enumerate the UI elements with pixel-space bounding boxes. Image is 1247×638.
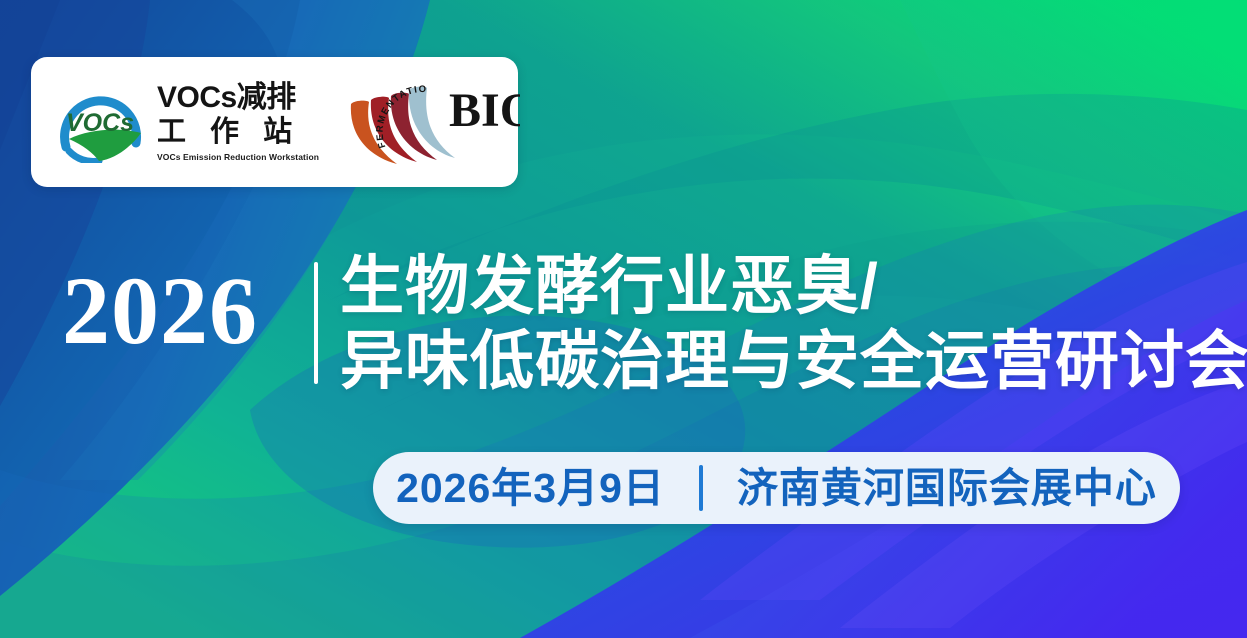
title-divider [314,262,318,384]
event-title: 生物发酵行业恶臭/ 异味低碳治理与安全运营研讨会 [340,252,1210,396]
vocs-logo: VOCs VOCs减排 工 作 站 VOCs Emission Reductio… [53,81,319,163]
conference-banner: VOCs VOCs减排 工 作 站 VOCs Emission Reductio… [0,0,1247,638]
vocs-title-line1: VOCs减排 [157,83,319,113]
vocs-subtitle: VOCs Emission Reduction Workstation [157,153,319,162]
event-title-line-2: 异味低碳治理与安全运营研讨会 [340,327,1210,396]
bio-fermentation-icon: FERMENTATION BIO [345,76,520,168]
vocs-emblem-icon: VOCs [53,81,149,163]
event-info-pill: 2026年3月9日 济南黄河国际会展中心 [373,452,1180,524]
svg-text:BIO: BIO [449,84,520,137]
event-venue: 济南黄河国际会展中心 [737,468,1157,509]
svg-text:VOCs: VOCs [66,109,134,137]
vocs-title-line2: 工 作 站 [157,118,319,147]
info-separator [699,465,703,511]
event-title-line-1: 生物发酵行业恶臭/ [340,252,1210,321]
bio-logo: FERMENTATION BIO [345,76,520,168]
event-date: 2026年3月9日 [396,468,665,509]
event-year: 2026 [62,263,258,359]
sponsor-logo-card: VOCs VOCs减排 工 作 站 VOCs Emission Reductio… [31,57,518,187]
vocs-wordmark: VOCs减排 工 作 站 VOCs Emission Reduction Wor… [157,83,319,162]
